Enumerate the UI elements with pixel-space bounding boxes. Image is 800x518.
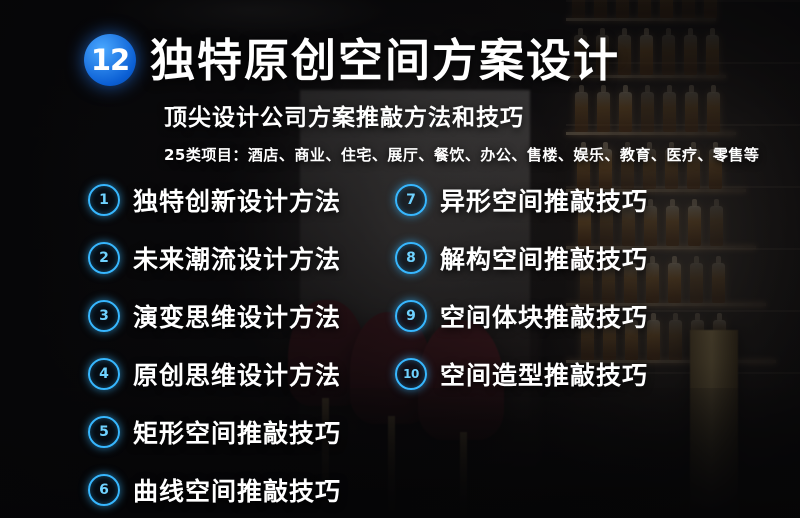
- list-item-number: 1: [88, 184, 120, 216]
- list-item: 9 空间体块推敲技巧: [395, 298, 648, 334]
- list-item-number: 9: [395, 300, 427, 332]
- topic-column-left: 1 独特创新设计方法 2 未来潮流设计方法 3 演变思维设计方法 4 原创思维设…: [88, 182, 341, 508]
- poster-content: 12 独特原创空间方案设计 顶尖设计公司方案推敲方法和技巧 25类项目：酒店、商…: [0, 0, 800, 518]
- list-item-number: 2: [88, 242, 120, 274]
- topic-lists: 1 独特创新设计方法 2 未来潮流设计方法 3 演变思维设计方法 4 原创思维设…: [88, 182, 738, 508]
- page-title: 独特原创空间方案设计: [150, 38, 620, 83]
- list-item: 1 独特创新设计方法: [88, 182, 341, 218]
- list-item: 4 原创思维设计方法: [88, 356, 341, 392]
- list-item-number: 5: [88, 416, 120, 448]
- list-item-label: 矩形空间推敲技巧: [133, 414, 341, 450]
- list-item-label: 解构空间推敲技巧: [440, 240, 648, 276]
- list-item-number: 4: [88, 358, 120, 390]
- poster-canvas: 12 独特原创空间方案设计 顶尖设计公司方案推敲方法和技巧 25类项目：酒店、商…: [0, 0, 800, 518]
- list-item: 2 未来潮流设计方法: [88, 240, 341, 276]
- list-item-number: 3: [88, 300, 120, 332]
- list-item: 6 曲线空间推敲技巧: [88, 472, 341, 508]
- list-item-label: 原创思维设计方法: [133, 356, 341, 392]
- list-item-label: 演变思维设计方法: [133, 298, 341, 334]
- list-item-label: 未来潮流设计方法: [133, 240, 341, 276]
- list-item-label: 曲线空间推敲技巧: [133, 472, 341, 508]
- list-item: 5 矩形空间推敲技巧: [88, 414, 341, 450]
- list-item-number: 7: [395, 184, 427, 216]
- title-row: 12 独特原创空间方案设计: [84, 34, 759, 86]
- list-item-number: 10: [395, 358, 427, 390]
- list-item: 8 解构空间推敲技巧: [395, 240, 648, 276]
- list-item-label: 异形空间推敲技巧: [440, 182, 648, 218]
- list-item: 10 空间造型推敲技巧: [395, 356, 648, 392]
- topic-column-right: 7 异形空间推敲技巧 8 解构空间推敲技巧 9 空间体块推敲技巧 10 空间造型…: [395, 182, 648, 508]
- course-number-badge: 12: [84, 34, 136, 86]
- list-item: 7 异形空间推敲技巧: [395, 182, 648, 218]
- list-item: 3 演变思维设计方法: [88, 298, 341, 334]
- list-item-label: 空间造型推敲技巧: [440, 356, 648, 392]
- list-item-label: 空间体块推敲技巧: [440, 298, 648, 334]
- page-tagline: 25类项目：酒店、商业、住宅、展厅、餐饮、办公、售楼、娱乐、教育、医疗、零售等: [164, 144, 759, 165]
- list-item-label: 独特创新设计方法: [133, 182, 341, 218]
- page-subtitle: 顶尖设计公司方案推敲方法和技巧: [164, 98, 759, 132]
- list-item-number: 8: [395, 242, 427, 274]
- list-item-number: 6: [88, 474, 120, 506]
- poster-header: 12 独特原创空间方案设计 顶尖设计公司方案推敲方法和技巧 25类项目：酒店、商…: [84, 34, 759, 165]
